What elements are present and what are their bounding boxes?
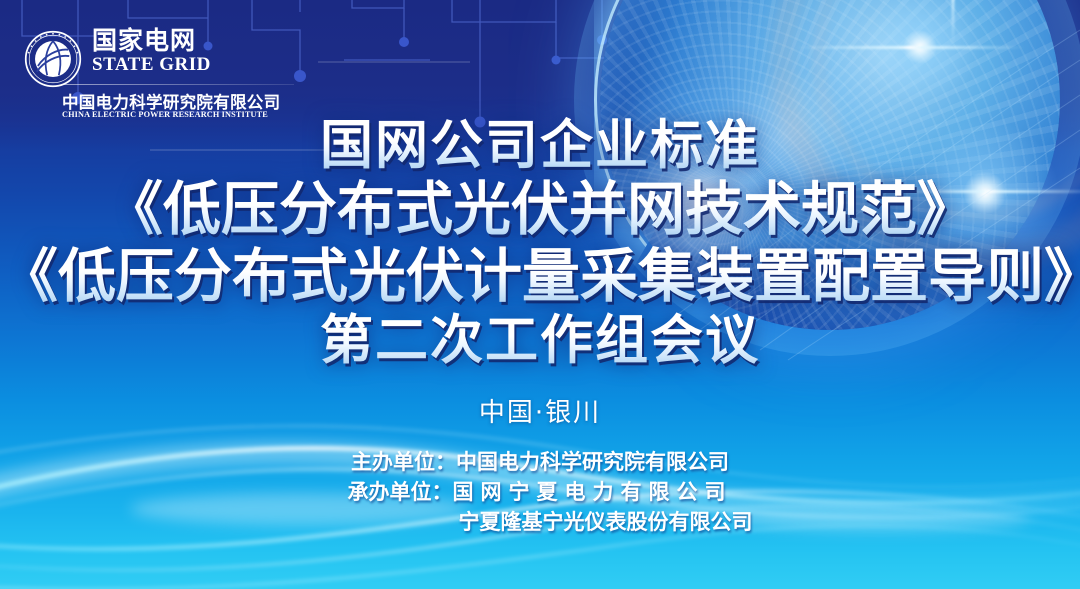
organizer-row: 宁夏隆基宁光仪表股份有限公司 (328, 508, 753, 538)
organizer-value: 中国电力科学研究院有限公司 (456, 448, 729, 478)
title-line-1: 国网公司企业标准 (0, 116, 1080, 175)
organizer-value: 宁夏隆基宁光仪表股份有限公司 (459, 508, 753, 538)
title-line-4: 第二次工作组会议 (0, 311, 1080, 370)
title-line-3: 《低压分布式光伏计量采集装置配置导则》 (0, 244, 1080, 309)
state-grid-wordmark: 国家电网 STATE GRID (92, 28, 211, 76)
event-location: 中国·银川 (0, 392, 1080, 429)
brand-divider (62, 84, 294, 85)
page-title: 国网公司企业标准 《低压分布式光伏并网技术规范》 《低压分布式光伏计量采集装置配… (0, 116, 1080, 371)
organizer-row: 承办单位： 国网宁夏电力有限公司 (348, 478, 733, 508)
title-line-2: 《低压分布式光伏并网技术规范》 (0, 177, 1080, 242)
organizer-value: 国网宁夏电力有限公司 (453, 478, 733, 508)
organizer-list: 主办单位： 中国电力科学研究院有限公司 承办单位： 国网宁夏电力有限公司 宁夏隆… (0, 448, 1080, 537)
state-grid-name-en: STATE GRID (92, 55, 211, 76)
conference-banner: 国家电网 STATE GRID 中国电力科学研究院有限公司 CHINA ELEC… (0, 0, 1080, 589)
organizer-label: 承办单位： (348, 478, 453, 508)
organizer-label: 主办单位： (351, 448, 456, 478)
state-grid-name-cn: 国家电网 (92, 28, 211, 54)
state-grid-globe-emblem-icon (24, 30, 82, 88)
organizer-row: 主办单位： 中国电力科学研究院有限公司 (351, 448, 729, 478)
